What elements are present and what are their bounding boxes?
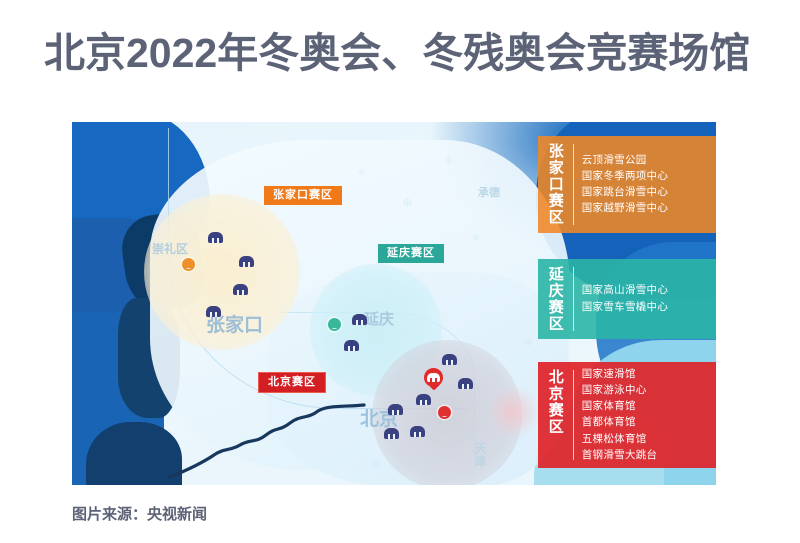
- page-title: 北京2022年冬奥会、冬残奥会竞赛场馆: [44, 27, 774, 79]
- zone-halo-beijing-accent: [490, 384, 538, 440]
- legend-venue-item: 国家跳台滑雪中心: [582, 186, 710, 199]
- legend-venue-item: 国家体育馆: [582, 400, 710, 413]
- legend-venue-item: 国家雪车雪橇中心: [582, 301, 710, 314]
- stadium-icon: [388, 404, 403, 415]
- venue-marker-bj-4[interactable]: [388, 404, 403, 415]
- map-zone-badge-zhangjiakou[interactable]: 张家口赛区: [264, 186, 342, 205]
- venue-marker-zjk-4[interactable]: [206, 306, 221, 317]
- venue-marker-bj-highlight[interactable]: [438, 406, 451, 419]
- legend-divider: [573, 144, 574, 225]
- stadium-icon: [442, 354, 457, 365]
- map-label-tianjin: 天津: [472, 442, 489, 468]
- legend-venue-item: 首钢滑雪大跳台: [582, 449, 710, 462]
- stadium-icon: [384, 428, 399, 439]
- legend-yanqing-wrapper: 延庆赛区 国家高山滑雪中心 国家雪车雪橇中心: [538, 259, 716, 339]
- legend-venue-item: 五棵松体育馆: [582, 433, 710, 446]
- venue-marker-bj-1[interactable]: [442, 354, 457, 365]
- legend-title-beijing: 北京赛区: [546, 368, 566, 462]
- venue-marker-yq-1[interactable]: [352, 314, 367, 325]
- highlight-dot-icon: [438, 406, 451, 419]
- venue-marker-yq-highlight[interactable]: [328, 318, 341, 331]
- legend-zhangjiakou-wrapper: 张家口赛区 云顶滑雪公园 国家冬季两项中心 国家跳台滑雪中心 国家越野滑雪中心: [538, 136, 716, 233]
- stadium-icon: [352, 314, 367, 325]
- legend-panel-zhangjiakou[interactable]: 张家口赛区 云顶滑雪公园 国家冬季两项中心 国家跳台滑雪中心 国家越野滑雪中心: [538, 136, 716, 233]
- venue-marker-bj-pin[interactable]: [424, 368, 443, 393]
- legend-venue-item: 国家冬季两项中心: [582, 170, 710, 183]
- stadium-icon: [239, 256, 254, 267]
- stadium-icon: [416, 394, 431, 405]
- map-label-yanqing: 延庆: [364, 308, 394, 329]
- legend-divider: [573, 370, 574, 460]
- map-zone-badge-beijing[interactable]: 北京赛区: [258, 372, 326, 393]
- legend-venue-item: 首都体育馆: [582, 416, 710, 429]
- legend-venue-list-zhangjiakou: 云顶滑雪公园 国家冬季两项中心 国家跳台滑雪中心 国家越野滑雪中心: [582, 142, 710, 227]
- legend-venue-item: 国家高山滑雪中心: [582, 284, 710, 297]
- legend-title-zhangjiakou: 张家口赛区: [546, 142, 566, 227]
- venue-marker-zjk-highlight[interactable]: [182, 258, 195, 271]
- legend-beijing-wrapper: 北京赛区 国家速滑馆 国家游泳中心 国家体育馆 首都体育馆 五棵松体育馆 首钢滑…: [538, 362, 716, 468]
- venue-marker-bj-2[interactable]: [458, 378, 473, 389]
- stadium-icon: [344, 340, 359, 351]
- legend-venue-item: 国家游泳中心: [582, 384, 710, 397]
- legend-venue-list-beijing: 国家速滑馆 国家游泳中心 国家体育馆 首都体育馆 五棵松体育馆 首钢滑雪大跳台: [582, 368, 710, 462]
- legend-venue-item: 国家越野滑雪中心: [582, 202, 710, 215]
- venue-marker-bj-6[interactable]: [410, 426, 425, 437]
- legend-venue-item: 国家速滑馆: [582, 368, 710, 381]
- legend-panel-yanqing[interactable]: 延庆赛区 国家高山滑雪中心 国家雪车雪橇中心: [538, 259, 716, 339]
- stadium-icon: [410, 426, 425, 437]
- venue-marker-zjk-2[interactable]: [239, 256, 254, 267]
- legend-divider: [573, 267, 574, 331]
- stadium-icon: [458, 378, 473, 389]
- stadium-icon: [206, 306, 221, 317]
- image-source-caption: 图片来源：央视新闻: [72, 503, 207, 524]
- map-label-chongli: 崇礼区: [152, 240, 188, 257]
- venue-marker-zjk-3[interactable]: [233, 284, 248, 295]
- map-label-chengde: 承德: [478, 184, 500, 200]
- venue-marker-zjk-1[interactable]: [208, 232, 223, 243]
- legend-venue-list-yanqing: 国家高山滑雪中心 国家雪车雪橇中心: [582, 265, 710, 333]
- highlight-dot-icon: [328, 318, 341, 331]
- map-pin-icon: [424, 368, 443, 393]
- legend-panel-beijing[interactable]: 北京赛区 国家速滑馆 国家游泳中心 国家体育馆 首都体育馆 五棵松体育馆 首钢滑…: [538, 362, 716, 468]
- legend-venue-item: 云顶滑雪公园: [582, 154, 710, 167]
- legend-title-yanqing: 延庆赛区: [546, 265, 566, 333]
- highlight-dot-icon: [182, 258, 195, 271]
- map-zone-badge-yanqing[interactable]: 延庆赛区: [378, 244, 444, 263]
- venue-marker-bj-5[interactable]: [384, 428, 399, 439]
- venue-marker-bj-3[interactable]: [416, 394, 431, 405]
- stadium-icon: [208, 232, 223, 243]
- stadium-icon: [233, 284, 248, 295]
- venue-map-figure: ❄ ❄ ❄ ❄ ❄ ❄ 崇礼区 张家口 延庆 北京 承德 天津 张家口赛区 延庆…: [72, 122, 716, 485]
- venue-marker-yq-2[interactable]: [344, 340, 359, 351]
